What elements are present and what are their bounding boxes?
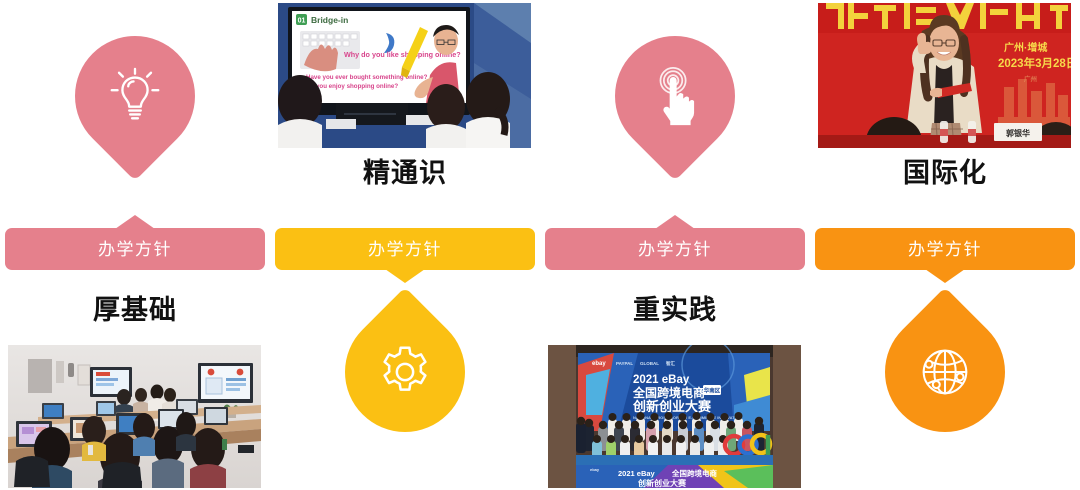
svg-text:ebay: ebay: [590, 467, 600, 472]
tap-hand-icon: [644, 65, 706, 127]
svg-text:全国跨境电商: 全国跨境电商: [632, 385, 705, 400]
banner-3[interactable]: 办学方针: [545, 228, 805, 270]
svg-text:创新创业大赛: 创新创业大赛: [632, 399, 712, 414]
column-2: 01 Bridge-in Why do you li: [270, 0, 540, 490]
photo-english-lesson: 01 Bridge-in Why do you li: [278, 3, 531, 148]
banner-label: 办学方针: [98, 241, 172, 258]
lightbulb-icon: [104, 65, 166, 127]
poster-board: 办学方针 厚基础: [0, 0, 1080, 490]
column-4: 广州·增城 2023年3月28日 广州: [810, 0, 1080, 490]
pin-lightbulb[interactable]: [50, 11, 220, 181]
banner-notch: [115, 215, 155, 229]
svg-text:ebay: ebay: [592, 361, 606, 367]
svg-text:全国跨境电商: 全国跨境电商: [671, 468, 717, 478]
banner-1[interactable]: 办学方针: [5, 228, 265, 270]
svg-text:广州: 广州: [1024, 74, 1037, 83]
svg-text:2023年3月28日: 2023年3月28日: [998, 56, 1071, 70]
banner-notch: [925, 269, 965, 283]
pin-tap-hand[interactable]: [590, 11, 760, 181]
svg-text:广州·增城: 广州·增城: [1004, 41, 1047, 54]
banner-label: 办学方针: [368, 241, 442, 258]
photo-ebay-competition: ebay PAYPAL GLOBAL 智汇 2021 eBay 全国跨境电商 创…: [548, 345, 801, 488]
banner-notch: [385, 269, 425, 283]
pin-gear[interactable]: [320, 287, 490, 457]
svg-text:Bridge-in: Bridge-in: [311, 15, 348, 25]
column-1: 办学方针 厚基础: [0, 0, 270, 490]
photo-computer-lab: [8, 345, 261, 488]
svg-text:PAYPAL: PAYPAL: [616, 361, 633, 366]
heading-4: 国际化: [810, 160, 1080, 187]
banner-2[interactable]: 办学方针: [275, 228, 535, 270]
svg-text:Do you enjoy shopping online?: Do you enjoy shopping online?: [306, 83, 398, 90]
photo-international-speaker: 广州·增城 2023年3月28日 广州: [818, 3, 1071, 148]
heading-1: 厚基础: [0, 297, 270, 324]
svg-text:智汇: 智汇: [666, 360, 675, 367]
pin-globe[interactable]: [860, 287, 1030, 457]
svg-text:01: 01: [298, 18, 306, 25]
svg-text:郭银华: 郭银华: [1006, 128, 1030, 138]
banner-label: 办学方针: [908, 241, 982, 258]
heading-3: 重实践: [540, 297, 810, 324]
svg-text:GLOBAL: GLOBAL: [640, 361, 659, 366]
svg-text:2021 eBay: 2021 eBay: [618, 469, 656, 478]
svg-text:创新创业大赛: 创新创业大赛: [637, 478, 687, 488]
heading-2: 精通识: [270, 160, 540, 187]
svg-text:华南区: 华南区: [704, 387, 721, 395]
gear-icon: [374, 341, 436, 403]
svg-text:Have you ever bought something: Have you ever bought something online?: [306, 74, 428, 81]
svg-text:2021 eBay: 2021 eBay: [633, 374, 690, 386]
banner-notch: [655, 215, 695, 229]
globe-network-icon: [914, 341, 976, 403]
banner-label: 办学方针: [638, 241, 712, 258]
banner-4[interactable]: 办学方针: [815, 228, 1075, 270]
column-3: 办学方针 重实践 ebay PAYPAL: [540, 0, 810, 490]
